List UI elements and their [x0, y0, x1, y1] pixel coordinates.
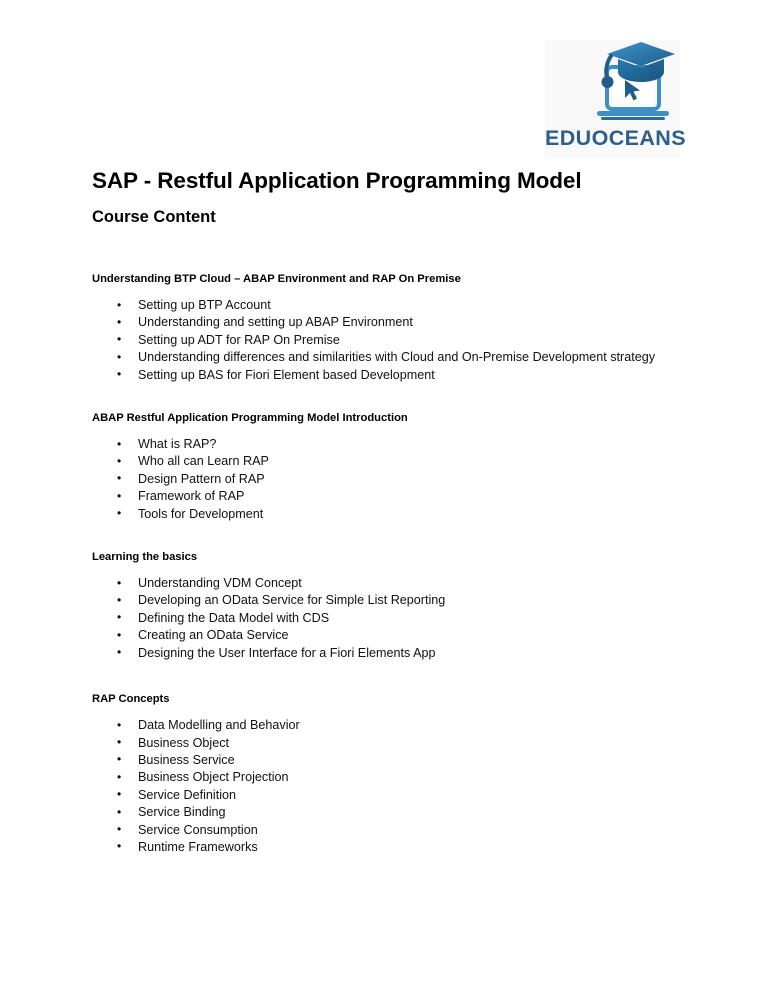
- list-item: Understanding differences and similariti…: [92, 349, 692, 366]
- list-item: Design Pattern of RAP: [92, 471, 692, 488]
- section-heading: RAP Concepts: [92, 692, 692, 706]
- section-gap: [92, 384, 692, 411]
- list-item: Service Definition: [92, 787, 692, 804]
- list-item: Tools for Development: [92, 506, 692, 523]
- list-item: Runtime Frameworks: [92, 839, 692, 856]
- brand-logo: EDUOCEANS: [545, 40, 680, 158]
- page-title: SAP - Restful Application Programming Mo…: [92, 168, 582, 194]
- list-item: Who all can Learn RAP: [92, 453, 692, 470]
- course-content: Understanding BTP Cloud – ABAP Environme…: [92, 272, 692, 856]
- section-gap: [92, 523, 692, 550]
- list-item: Setting up BAS for Fiori Element based D…: [92, 367, 692, 384]
- list-item: Defining the Data Model with CDS: [92, 610, 692, 627]
- page-subtitle: Course Content: [92, 208, 216, 227]
- list-item: Service Consumption: [92, 822, 692, 839]
- section-btp-cloud: Understanding BTP Cloud – ABAP Environme…: [92, 272, 692, 384]
- section-bullet-list: What is RAP? Who all can Learn RAP Desig…: [92, 436, 692, 523]
- section-gap: [92, 662, 692, 692]
- logo-wordmark: EDUOCEANS: [545, 128, 680, 150]
- list-item: Creating an OData Service: [92, 627, 692, 644]
- list-item: Developing an OData Service for Simple L…: [92, 592, 692, 609]
- section-rap-introduction: ABAP Restful Application Programming Mod…: [92, 411, 692, 523]
- list-item: What is RAP?: [92, 436, 692, 453]
- list-item: Service Binding: [92, 804, 692, 821]
- section-heading: ABAP Restful Application Programming Mod…: [92, 411, 692, 425]
- list-item: Business Object: [92, 735, 692, 752]
- section-heading: Learning the basics: [92, 550, 692, 564]
- list-item: Setting up ADT for RAP On Premise: [92, 332, 692, 349]
- list-item: Data Modelling and Behavior: [92, 717, 692, 734]
- section-learning-basics: Learning the basics Understanding VDM Co…: [92, 550, 692, 662]
- list-item: Understanding VDM Concept: [92, 575, 692, 592]
- graduation-cap-laptop-icon: [545, 40, 680, 132]
- list-item: Understanding and setting up ABAP Enviro…: [92, 314, 692, 331]
- document-page: EDUOCEANS SAP - Restful Application Prog…: [0, 0, 768, 994]
- list-item: Business Object Projection: [92, 769, 692, 786]
- section-heading: Understanding BTP Cloud – ABAP Environme…: [92, 272, 692, 286]
- section-bullet-list: Data Modelling and Behavior Business Obj…: [92, 717, 692, 856]
- list-item: Business Service: [92, 752, 692, 769]
- list-item: Framework of RAP: [92, 488, 692, 505]
- list-item: Designing the User Interface for a Fiori…: [92, 645, 692, 662]
- section-rap-concepts: RAP Concepts Data Modelling and Behavior…: [92, 692, 692, 856]
- section-bullet-list: Understanding VDM Concept Developing an …: [92, 575, 692, 662]
- list-item: Setting up BTP Account: [92, 297, 692, 314]
- section-bullet-list: Setting up BTP Account Understanding and…: [92, 297, 692, 384]
